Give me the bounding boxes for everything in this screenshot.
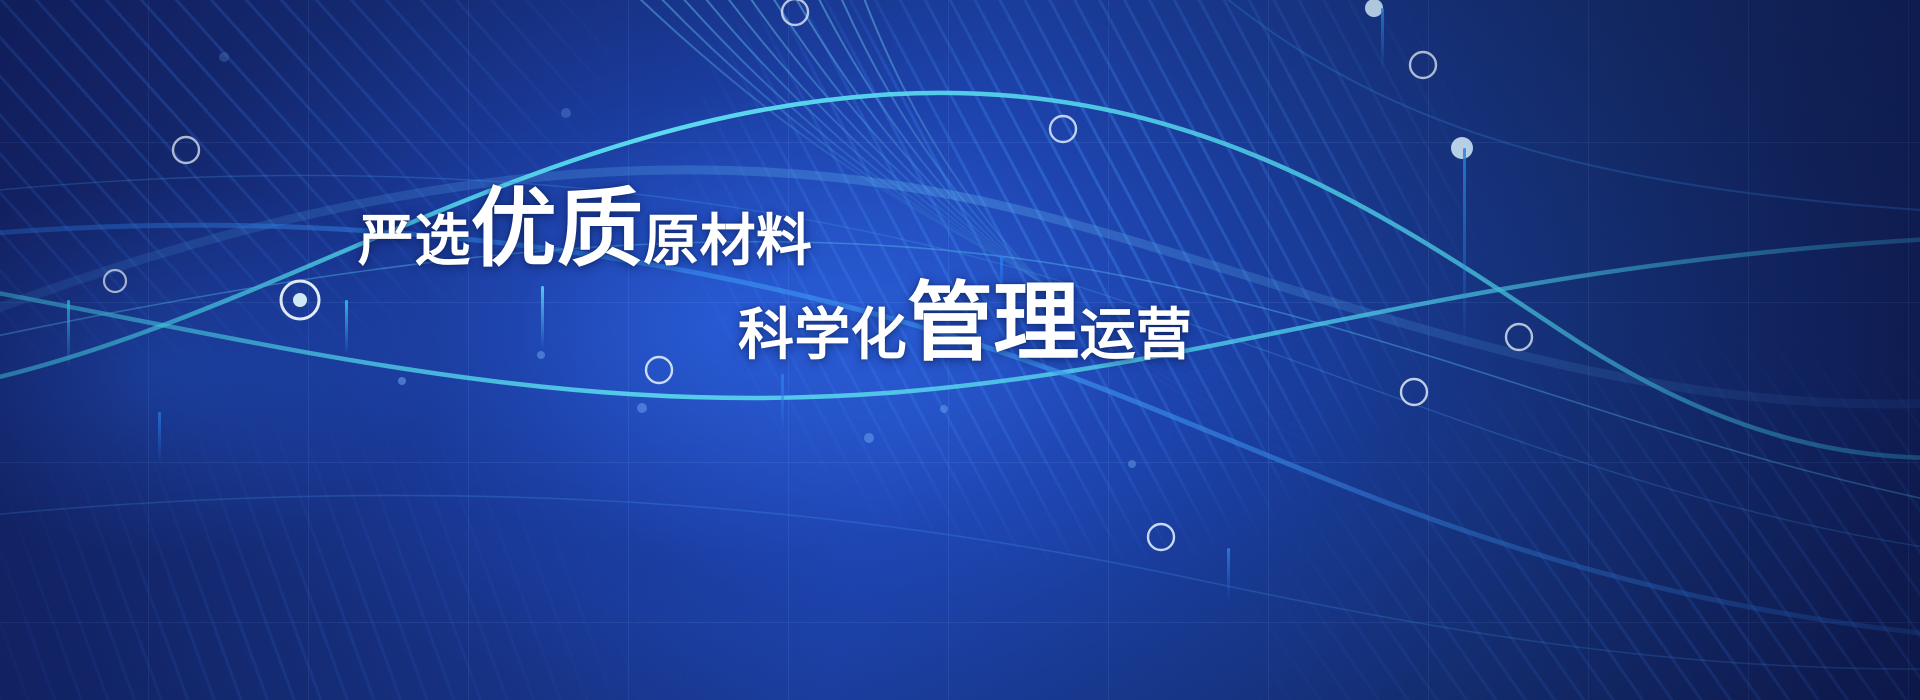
headline-1-segment-2: 原材料 — [643, 209, 812, 272]
headline-1-segment-0: 严选 — [358, 209, 471, 272]
headline-1-segment-1: 优质 — [471, 181, 644, 277]
headline-2-segment-0: 科学化 — [738, 303, 907, 366]
promo-banner: 严选优质原材料 科学化管理运营 — [0, 0, 1920, 700]
headline-2-segment-1: 管理 — [907, 275, 1080, 371]
headline-line-2: 科学化管理运营 — [738, 280, 1192, 366]
headline-block: 严选优质原材料 科学化管理运营 — [0, 0, 1920, 700]
headline-2-segment-2: 运营 — [1080, 303, 1193, 366]
headline-line-1: 严选优质原材料 — [358, 186, 812, 272]
